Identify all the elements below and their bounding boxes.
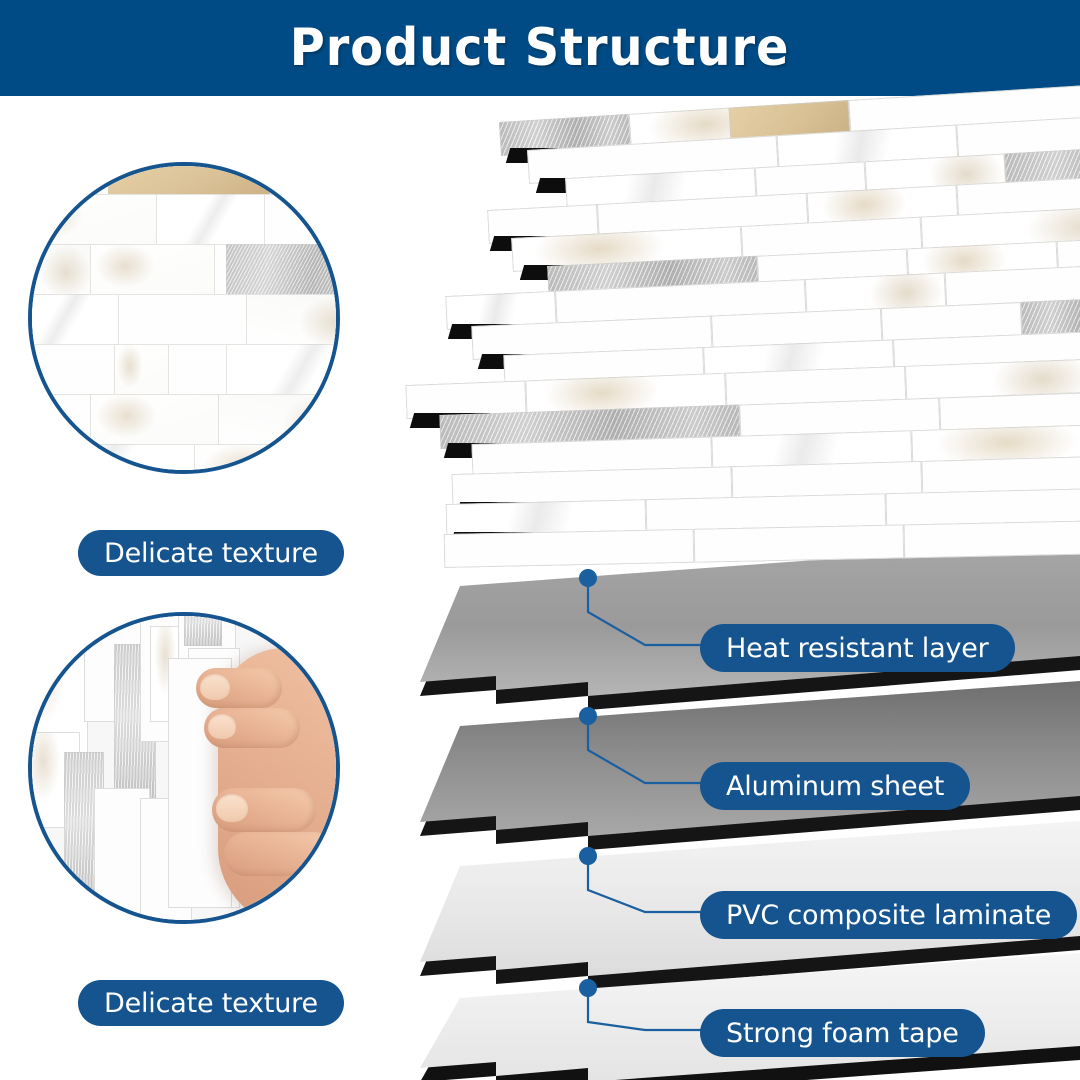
callout-heat-resistant-layer: Heat resistant layer	[700, 624, 1015, 672]
inset-circle-texture	[28, 162, 340, 474]
caption-delicate-texture-2: Delicate texture	[78, 980, 344, 1026]
inset-circle-install	[28, 612, 340, 924]
callout-pvc-composite-laminate: PVC composite laminate	[700, 891, 1077, 939]
callout-aluminum-sheet: Aluminum sheet	[700, 762, 970, 810]
caption-delicate-texture-1: Delicate texture	[78, 530, 344, 576]
header-banner: Product Structure	[0, 0, 1080, 96]
tile-mosaic-image	[28, 162, 340, 474]
callout-strong-foam-tape: Strong foam tape	[700, 1009, 985, 1057]
hand-install-image	[28, 612, 340, 924]
page-title: Product Structure	[290, 18, 790, 78]
